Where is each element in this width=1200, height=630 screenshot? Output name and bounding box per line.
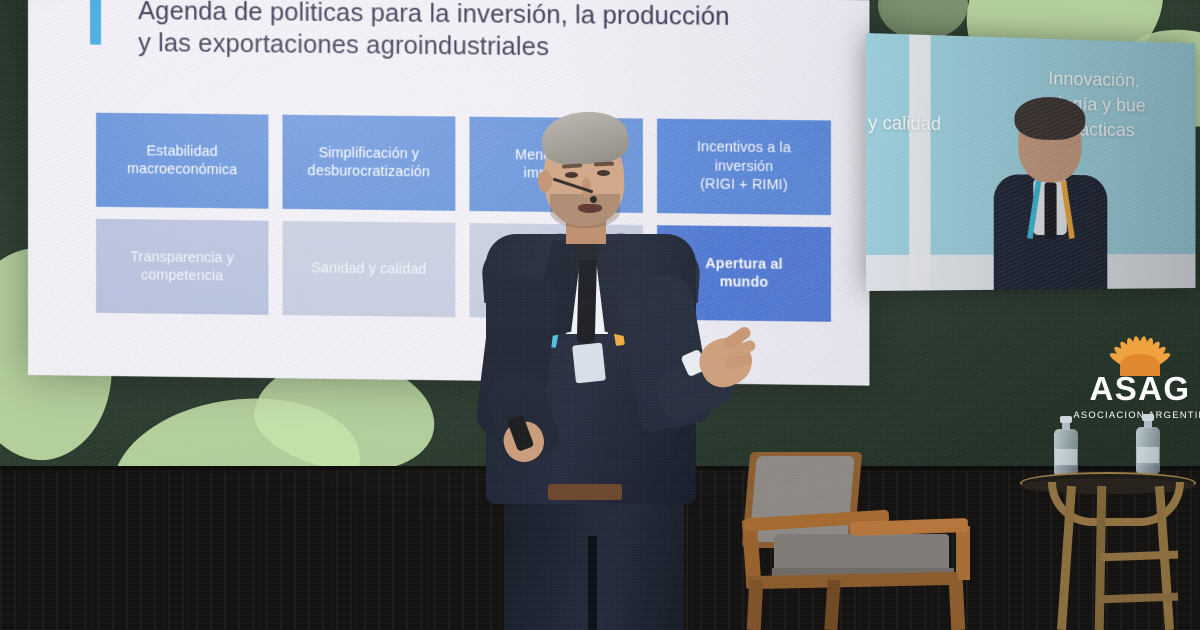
stage-photo: Agenda de politicas para la inversión, l… <box>0 0 1200 630</box>
slide-title-line-2: y las exportaciones agroindustriales <box>138 27 843 66</box>
policy-box-transparencia-competencia: Transparencia y competencia <box>96 219 268 315</box>
policy-box-line-1: Sanidad y calidad <box>311 260 426 277</box>
side-screen-speaker-closeup <box>990 102 1111 291</box>
title-accent-bar <box>90 0 101 45</box>
side-text-line-1: Innovación, <box>1048 66 1195 95</box>
policy-box-line-1: Transparencia y <box>130 249 234 266</box>
speaker-hair <box>540 109 629 167</box>
water-bottle <box>1136 414 1160 474</box>
side-screen-divider <box>909 33 930 291</box>
speaker-presenter <box>432 112 762 630</box>
policy-box-line-2: competencia <box>141 267 223 284</box>
slide-title-line-1: Agenda de politicas para la inversión, l… <box>138 0 730 31</box>
side-screen-left-text: y calidad <box>868 113 989 138</box>
policy-box-line-2: macroeconómica <box>127 161 237 178</box>
policy-box-line-1: Estabilidad <box>147 143 218 160</box>
logo-wordmark: ASAG <box>1060 372 1200 405</box>
policy-box-line-1: Simplificación y <box>319 145 420 162</box>
policy-box-sanidad-calidad: Sanidad y calidad <box>282 221 455 317</box>
lanyard-badge <box>572 343 606 384</box>
slide-title: Agenda de politicas para la inversión, l… <box>138 0 843 67</box>
policy-box-estabilidad-macroeconomica: Estabilidad macroeconómica <box>96 113 268 209</box>
asagir-logo: ASAG ASOCIACION ARGENTIN <box>1060 330 1200 420</box>
sunflower-icon <box>1081 330 1199 370</box>
speaker-belt <box>548 484 622 500</box>
policy-box-simplificacion-desburocratizacion: Simplificación y desburocratización <box>282 115 455 211</box>
secondary-projection-screen: y calidad Innovación, ología y bue práct… <box>866 33 1196 291</box>
policy-box-line-2: desburocratización <box>308 163 430 180</box>
water-bottle <box>1054 416 1078 476</box>
round-side-table <box>1014 416 1200 630</box>
speaker-tie <box>577 248 598 344</box>
